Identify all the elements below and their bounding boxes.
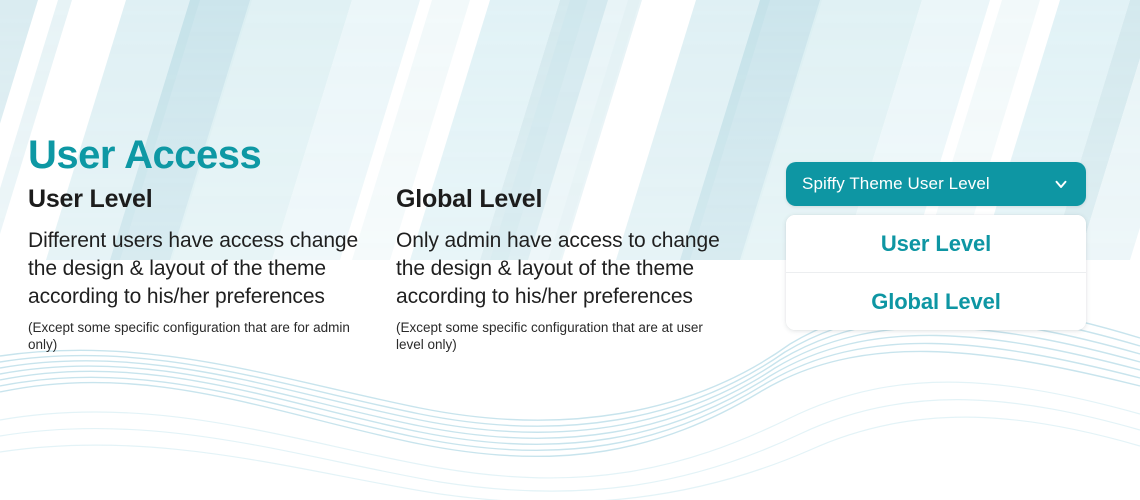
page-title: User Access — [28, 133, 261, 177]
dropdown-menu: User Level Global Level — [786, 215, 1086, 330]
column-note-global-level: (Except some specific configuration that… — [396, 319, 726, 354]
slide-canvas: User Access User Level Different users h… — [0, 0, 1140, 500]
column-global-level: Global Level Only admin have access to c… — [396, 185, 726, 353]
user-level-dropdown: Spiffy Theme User Level User Level Globa… — [786, 162, 1086, 330]
column-note-user-level: (Except some specific configuration that… — [28, 319, 373, 354]
slide-content: User Access User Level Different users h… — [0, 0, 1140, 500]
dropdown-option-global-level[interactable]: Global Level — [786, 272, 1086, 330]
column-body-user-level: Different users have access change the d… — [28, 227, 373, 311]
chevron-down-icon[interactable] — [1052, 175, 1070, 193]
column-body-global-level: Only admin have access to change the des… — [396, 227, 726, 311]
dropdown-toggle[interactable]: Spiffy Theme User Level — [786, 162, 1086, 206]
column-user-level: User Level Different users have access c… — [28, 185, 373, 353]
dropdown-option-user-level[interactable]: User Level — [786, 215, 1086, 272]
column-heading-global-level: Global Level — [396, 185, 726, 214]
column-heading-user-level: User Level — [28, 185, 373, 214]
dropdown-option-label: User Level — [881, 231, 991, 257]
dropdown-selected-label: Spiffy Theme User Level — [802, 174, 990, 194]
dropdown-option-label: Global Level — [871, 289, 1001, 315]
